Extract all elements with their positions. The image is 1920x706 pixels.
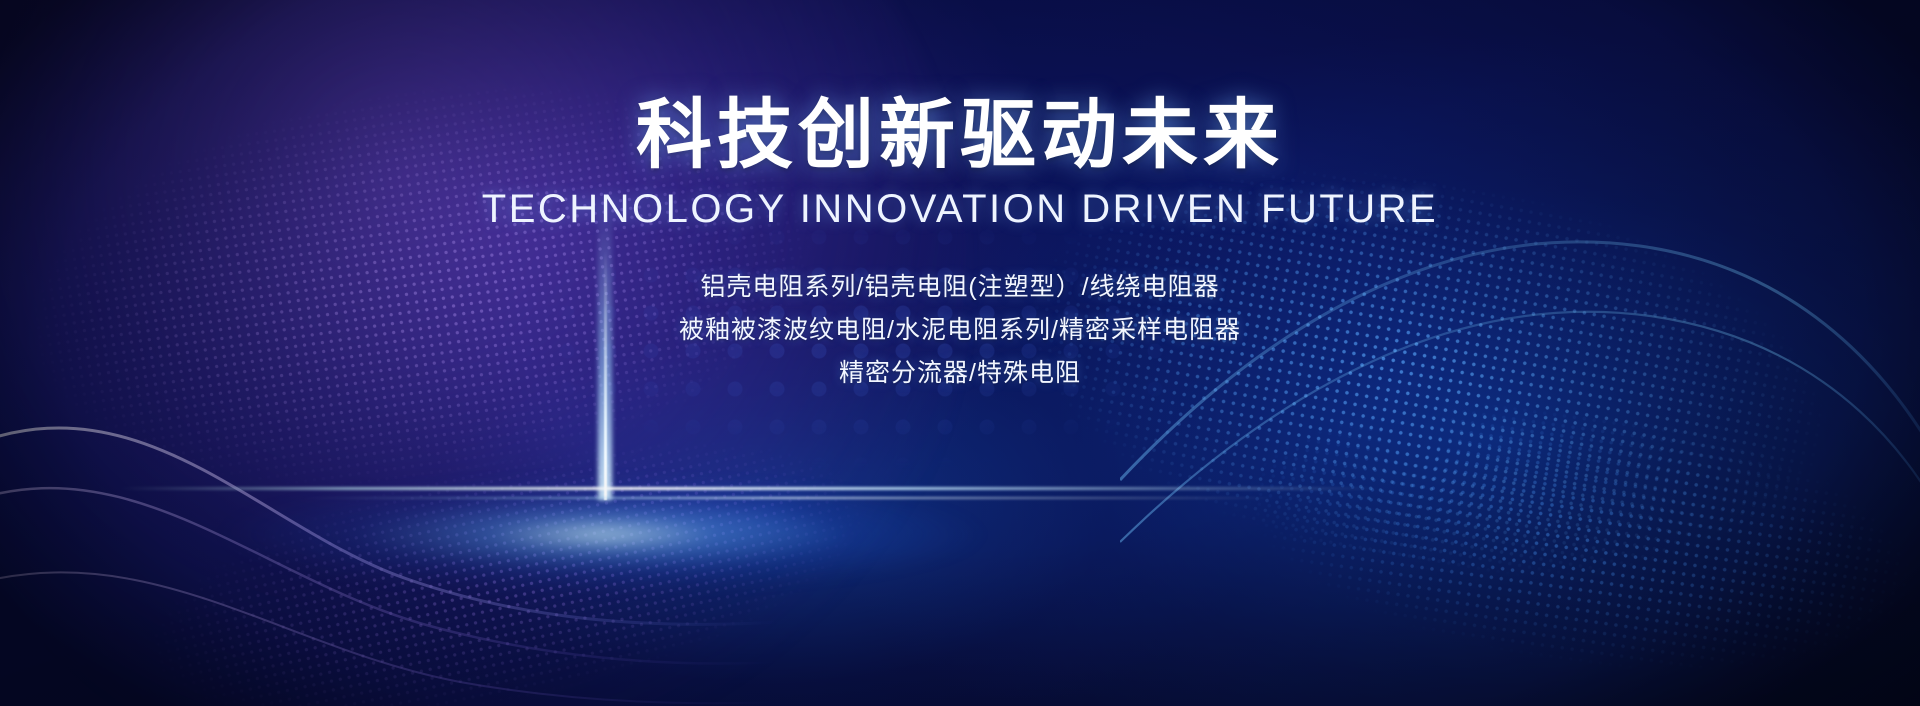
product-category-list: 铝壳电阻系列/铝壳电阻(注塑型）/线绕电阻器 被釉被漆波纹电阻/水泥电阻系列/精…	[0, 266, 1920, 395]
banner-title-english: TECHNOLOGY INNOVATION DRIVEN FUTURE	[0, 187, 1920, 232]
product-category-line-2: 被釉被漆波纹电阻/水泥电阻系列/精密采样电阻器	[0, 309, 1920, 352]
banner-title-chinese: 科技创新驱动未来	[0, 0, 1920, 177]
hero-banner: 科技创新驱动未来 TECHNOLOGY INNOVATION DRIVEN FU…	[0, 0, 1920, 706]
horizon-line-secondary	[300, 497, 1280, 499]
product-category-line-1: 铝壳电阻系列/铝壳电阻(注塑型）/线绕电阻器	[0, 266, 1920, 309]
horizon-glow	[140, 430, 1240, 610]
horizon-line	[120, 487, 1380, 490]
product-category-line-3: 精密分流器/特殊电阻	[0, 352, 1920, 395]
banner-content: 科技创新驱动未来 TECHNOLOGY INNOVATION DRIVEN FU…	[0, 0, 1920, 395]
